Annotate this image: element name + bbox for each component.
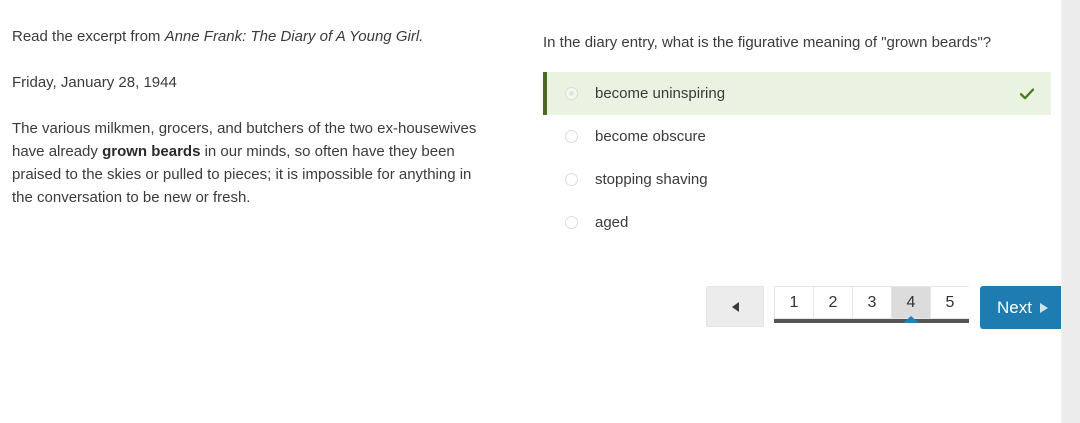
instruction-prefix: Read the excerpt from (12, 28, 165, 45)
page-number-1[interactable]: 1 (774, 286, 813, 319)
vertical-scrollbar[interactable] (1061, 0, 1080, 423)
answer-options-list: become uninspiring become obscure stoppi… (543, 72, 1051, 244)
page-scroll-area: Read the excerpt from Anne Frank: The Di… (0, 0, 1061, 423)
radio-button-0[interactable] (565, 87, 578, 100)
passage-panel: Read the excerpt from Anne Frank: The Di… (12, 25, 492, 209)
two-column-layout: Read the excerpt from Anne Frank: The Di… (0, 0, 1061, 423)
question-panel: In the diary entry, what is the figurati… (543, 31, 1051, 244)
page-number-2[interactable]: 2 (813, 286, 852, 319)
passage-date: Friday, January 28, 1944 (12, 71, 492, 94)
passage-body: The various milkmen, grocers, and butche… (12, 117, 492, 209)
triangle-right-icon (1040, 303, 1048, 313)
pagination-bar: 1 2 3 4 5 Next (706, 286, 1061, 329)
next-button-label: Next (997, 298, 1032, 318)
previous-page-button[interactable] (706, 286, 764, 327)
answer-option-0[interactable]: become uninspiring (543, 72, 1051, 115)
checkmark-icon (1019, 86, 1035, 102)
page-number-4[interactable]: 4 (891, 286, 930, 319)
passage-instruction: Read the excerpt from Anne Frank: The Di… (12, 25, 492, 48)
radio-button-3[interactable] (565, 216, 578, 229)
page-number-group: 1 2 3 4 5 (774, 286, 969, 323)
answer-option-2[interactable]: stopping shaving (543, 158, 1051, 201)
radio-button-1[interactable] (565, 130, 578, 143)
passage-body-highlight: grown beards (102, 143, 200, 160)
answer-option-1[interactable]: become obscure (543, 115, 1051, 158)
answer-option-label-3: aged (595, 213, 628, 232)
book-title: Anne Frank: The Diary of A Young Girl. (165, 28, 424, 45)
answer-option-label-0: become uninspiring (595, 84, 725, 103)
next-button[interactable]: Next (980, 286, 1061, 329)
radio-button-2[interactable] (565, 173, 578, 186)
answer-option-3[interactable]: aged (543, 201, 1051, 244)
active-page-caret-icon (903, 316, 919, 323)
answer-option-label-2: stopping shaving (595, 170, 708, 189)
triangle-left-icon (732, 302, 739, 312)
answer-option-label-1: become obscure (595, 127, 706, 146)
page-number-3[interactable]: 3 (852, 286, 891, 319)
question-prompt: In the diary entry, what is the figurati… (543, 31, 1003, 54)
page-number-5[interactable]: 5 (930, 286, 969, 319)
